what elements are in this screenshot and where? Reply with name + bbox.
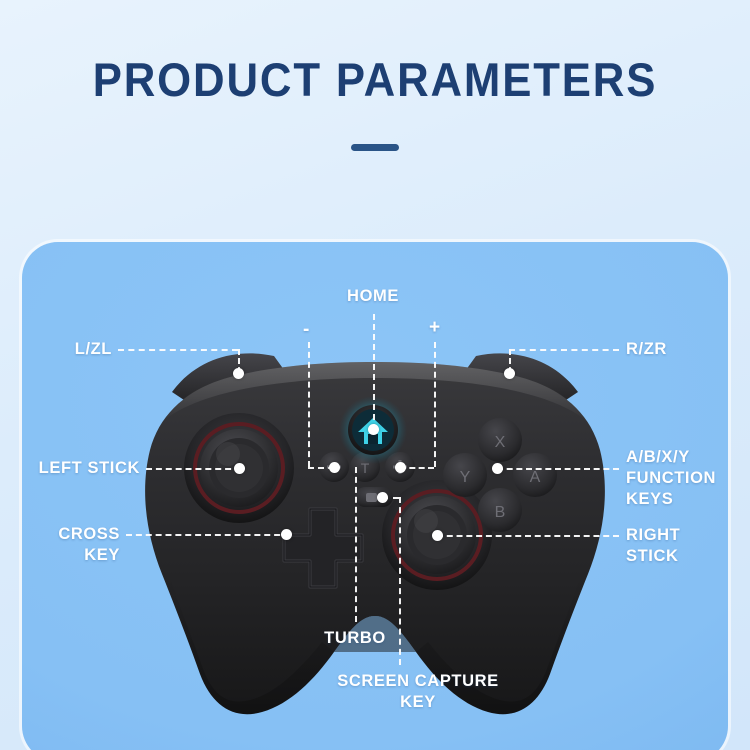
leader-dot-plus (395, 462, 406, 473)
svg-text:A: A (530, 469, 541, 486)
leader-dot-home (368, 424, 379, 435)
svg-text:Y: Y (460, 469, 471, 486)
callout-minus: - (303, 320, 309, 339)
product-parameters-card: X Y A B T (22, 242, 728, 750)
callout-plus: + (429, 318, 440, 337)
callout-left-stick: LEFT STICK (22, 458, 140, 479)
leader-line-screen-capture-horizontal (382, 497, 399, 499)
leader-dot-cross-key (281, 529, 292, 540)
leader-dot-right-stick (432, 530, 443, 541)
callout-r-zr: R/ZR (626, 339, 726, 360)
leader-dot-rzr (504, 368, 515, 379)
callout-turbo: TURBO (305, 628, 405, 649)
leader-line-plus-vertical (434, 342, 436, 467)
callout-right-stick: RIGHT STICK (626, 525, 726, 567)
svg-text:X: X (495, 434, 506, 451)
callout-function-keys: A/B/X/Y FUNCTION KEYS (626, 447, 728, 510)
callout-screen-capture: SCREEN CAPTURE KEY (318, 671, 518, 713)
page-title: PRODUCT PARAMETERS (26, 52, 724, 107)
leader-line-rzr-horizontal (509, 349, 619, 351)
leader-dot-lzl (233, 368, 244, 379)
callout-cross-key: CROSS KEY (22, 524, 120, 566)
leader-line-function-keys (497, 468, 619, 470)
leader-line-turbo (355, 467, 357, 622)
svg-text:T: T (361, 460, 370, 476)
svg-text:B: B (495, 504, 506, 521)
leader-dot-function-keys (492, 463, 503, 474)
callout-l-zl: L/ZL (22, 339, 112, 360)
title-divider (351, 144, 399, 151)
leader-line-left-stick (146, 468, 241, 470)
leader-dot-left-stick (234, 463, 245, 474)
leader-line-home (373, 314, 375, 430)
leader-line-minus-vertical (308, 342, 310, 467)
leader-line-lzl-horizontal (118, 349, 238, 351)
leader-line-cross-key (126, 534, 290, 536)
leader-dot-minus (329, 462, 340, 473)
callout-home: HOME (323, 286, 423, 307)
leader-line-right-stick (437, 535, 619, 537)
